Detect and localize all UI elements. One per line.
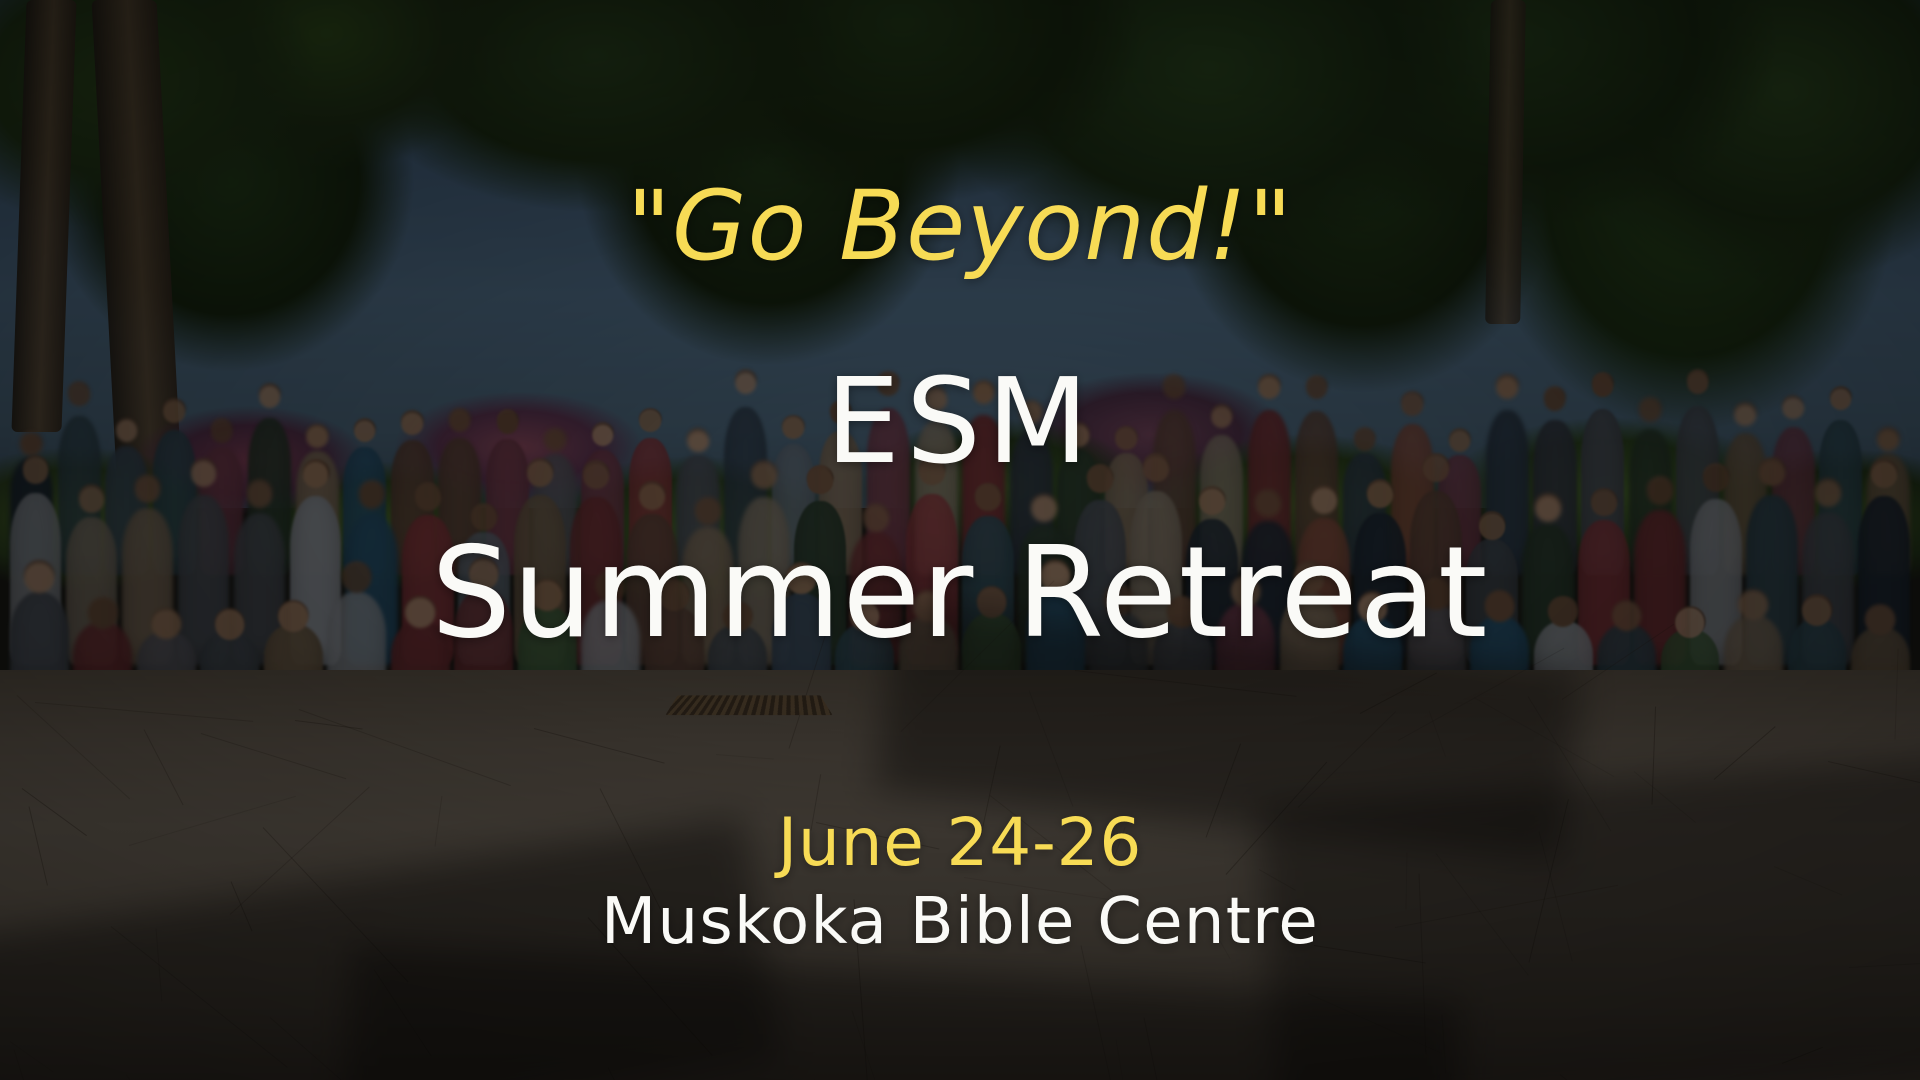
poster-event-title: Summer Retreat — [0, 530, 1920, 656]
poster-venue: Muskoka Bible Centre — [0, 890, 1920, 954]
poster-dates: June 24-26 — [0, 810, 1920, 876]
poster-organization: ESM — [0, 362, 1920, 480]
retreat-poster: "Go Beyond!" ESM Summer Retreat June 24-… — [0, 0, 1920, 1080]
poster-tagline: "Go Beyond!" — [0, 178, 1920, 274]
poster-text-overlay: "Go Beyond!" ESM Summer Retreat June 24-… — [0, 0, 1920, 1080]
